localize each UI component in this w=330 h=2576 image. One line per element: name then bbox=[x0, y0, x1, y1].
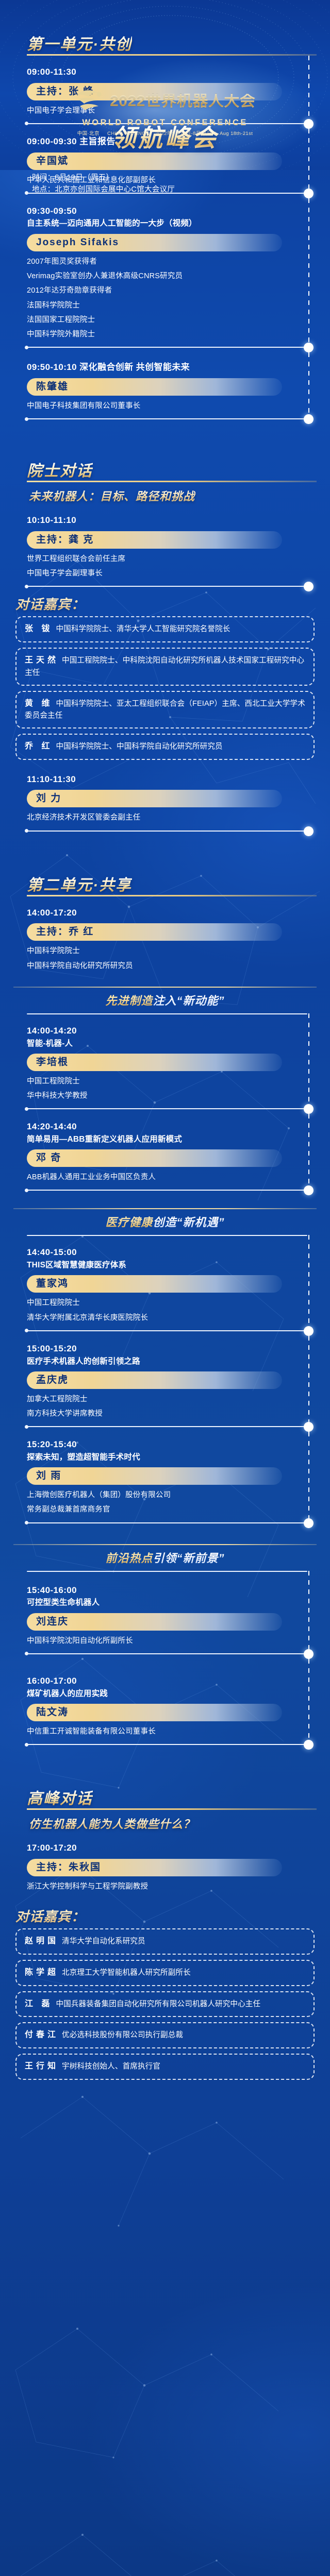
event-time: 时间：8月19日（周五） bbox=[32, 172, 175, 184]
unit-2-title: 第二单元·共享 bbox=[27, 877, 132, 894]
guest-name: 王天然 bbox=[25, 656, 59, 665]
speaker-affiliation: 上海微创医疗机器人（集团）股份有限公司 bbox=[27, 1488, 317, 1502]
unit-2-section: 第二单元·共享 bbox=[0, 872, 330, 896]
session-slot[interactable]: 11:10-11:30 刘 力 北京经济技术开发区管委会副主任 bbox=[13, 766, 317, 832]
guests-heading: 对话嘉宾： bbox=[0, 1899, 98, 1928]
academician-dialogue-title: 院士对话 bbox=[27, 463, 93, 480]
summit-dialogue-rule bbox=[27, 1808, 317, 1810]
speaker-name-pill: 陈肇雄 bbox=[27, 378, 282, 396]
band-3-timeline: 15:40-16:00 可控型类生命机器人 刘连庆 中国科学院沈阳自动化所副所长… bbox=[0, 1571, 330, 1745]
speaker-affiliation: 中信重工开诚智能装备有限公司董事长 bbox=[27, 1724, 317, 1739]
session-slot[interactable]: 14:40-15:00 THIS区域智慧健康医疗体系 董家鸿 中国工程院院士 清… bbox=[13, 1235, 317, 1331]
speaker-affiliation: 中国科学院沈阳自动化所副所长 bbox=[27, 1634, 317, 1648]
guest-name: 陈学超 bbox=[25, 1968, 59, 1977]
event-meta: 时间：8月19日（周五） 地点：北京亦创国际会展中心C馆大会议厅 bbox=[32, 172, 175, 196]
guest-title: 中国科学院院士、中国科学院自动化研究所研究员 bbox=[56, 742, 222, 751]
slot-time: 10:10-11:10 bbox=[27, 514, 317, 527]
unit-1-section: 第一单元·共创 bbox=[0, 31, 330, 56]
session-slot[interactable]: 15:00-15:20 医疗手术机器人的创新引领之路 孟庆虎 加拿大工程院院士 … bbox=[13, 1331, 317, 1427]
session-slot[interactable]: 14:00-17:20 主持：乔 红 中国科学院院士 中国科学院自动化研究所研究… bbox=[13, 896, 317, 976]
host-affiliation: 中国电子学会副理事长 bbox=[27, 566, 317, 581]
summit-dialogue-subtitle: 仿生机器人能为人类做些什么？ bbox=[29, 1815, 317, 1832]
page-title: 领航峰会 bbox=[0, 126, 330, 150]
guest-name: 乔 红 bbox=[25, 742, 53, 751]
slot-time: 09:30-09:50 bbox=[27, 205, 317, 218]
guest-name: 付春江 bbox=[25, 2030, 59, 2039]
speaker-affiliation: 2012年达芬奇勋章获得者 bbox=[27, 283, 317, 298]
slot-time: 14:00-17:20 bbox=[27, 907, 317, 920]
guest-title: 宇树科技创始人、首席执行官 bbox=[62, 2062, 160, 2071]
speaker-affiliation: Verimag实验室创办人兼退休高级CNRS研究员 bbox=[27, 269, 317, 283]
slot-time: 11:10-11:30 bbox=[27, 773, 317, 786]
guest-name: 江 磊 bbox=[25, 1999, 53, 2008]
host-affiliation: 世界工程组织联合会前任主席 bbox=[27, 552, 317, 566]
guest-item[interactable]: 江 磊中国兵器装备集团自动化研究所有限公司机器人研究中心主任 bbox=[15, 1991, 315, 2018]
slot-time: 09:00-11:30 bbox=[27, 66, 317, 79]
session-slot[interactable]: 14:20-14:40 简单易用—ABB重新定义机器人应用新模式 邓 奇 ABB… bbox=[13, 1109, 317, 1191]
speaker-affiliation: 中国工程院院士 bbox=[27, 1074, 317, 1089]
host-name-pill: 主持：乔 红 bbox=[27, 923, 282, 941]
band-plain: 创造“新机遇” bbox=[153, 1216, 225, 1229]
event-place: 地点：北京亦创国际会展中心C馆大会议厅 bbox=[32, 184, 175, 196]
guest-item[interactable]: 付春江优必选科技股份有限公司执行副总裁 bbox=[15, 2022, 315, 2048]
guest-item[interactable]: 赵明国清华大学自动化系研究员 bbox=[15, 1928, 315, 1955]
slot-time: 14:00-14:20 bbox=[27, 1025, 317, 1038]
speaker-affiliation: 中国工程院院士 bbox=[27, 1296, 317, 1310]
guest-item[interactable]: 王行知宇树科技创始人、首席执行官 bbox=[15, 2054, 315, 2080]
speaker-affiliation: 中国科学院外籍院士 bbox=[27, 327, 317, 342]
guest-name: 王行知 bbox=[25, 2062, 59, 2071]
session-slot[interactable]: 09:30-09:50 自主系统—迈向通用人工智能的一大步（视频） Joseph… bbox=[13, 194, 317, 348]
academician-dialogue-rule bbox=[27, 481, 317, 482]
band-plain: 引领“新前景” bbox=[153, 1552, 225, 1565]
band-2-timeline: 14:40-15:00 THIS区域智慧健康医疗体系 董家鸿 中国工程院院士 清… bbox=[0, 1235, 330, 1523]
guest-title: 中国科学院院士、清华大学人工智能研究院名誉院长 bbox=[56, 625, 230, 633]
speaker-name-pill: 李培根 bbox=[27, 1054, 282, 1071]
slot-topic: 自主系统—迈向通用人工智能的一大步（视频） bbox=[27, 217, 317, 229]
summit-host-timeline: 17:00-17:20 主持：朱秋国 浙江大学控制科学与工程学院副教授 bbox=[0, 1832, 330, 1899]
guest-title: 中国工程院院士、中科院沈阳自动化研究所机器人技术国家工程研究中心主任 bbox=[25, 656, 304, 677]
speaker-name-pill: 邓 奇 bbox=[27, 1149, 282, 1167]
guest-title: 北京理工大学智能机器人研究所副所长 bbox=[62, 1969, 191, 1977]
guest-title: 清华大学自动化系研究员 bbox=[62, 1937, 145, 1945]
unit-2-host-timeline: 14:00-17:20 主持：乔 红 中国科学院院士 中国科学院自动化研究所研究… bbox=[0, 896, 330, 976]
speaker-affiliation: 南方科技大学讲席教授 bbox=[27, 1406, 317, 1421]
speaker-affiliation: ABB机器人通用工业业务中国区负责人 bbox=[27, 1170, 317, 1184]
academician-dialogue-timeline: 10:10-11:10 主持：龚 克 世界工程组织联合会前任主席 中国电子学会副… bbox=[0, 504, 330, 587]
host-affiliation: 中国科学院自动化研究所研究员 bbox=[27, 959, 317, 973]
session-slot[interactable]: 15:20-15:40 探索未知，塑造超智能手术时代 刘 雨 上海微创医疗机器人… bbox=[13, 1427, 317, 1523]
slot-topic: 医疗手术机器人的创新引领之路 bbox=[27, 1355, 317, 1367]
guest-name: 张 钹 bbox=[25, 624, 53, 633]
speaker-name-pill: 刘连庆 bbox=[27, 1613, 282, 1631]
guest-name: 赵明国 bbox=[25, 1937, 59, 1945]
conference-title-cn: 2022世界机器人大会 bbox=[110, 94, 255, 109]
session-slot[interactable]: 16:00-17:00 煤矿机器人的应用实践 陆文涛 中信重工开诚智能装备有限公… bbox=[13, 1654, 317, 1745]
speaker-affiliation: 常务副总裁兼首席商务官 bbox=[27, 1502, 317, 1517]
guest-title: 优必选科技股份有限公司执行副总裁 bbox=[62, 2031, 183, 2039]
speaker-name-pill: 刘 雨 bbox=[27, 1467, 282, 1485]
speaker-name-pill: 辛国斌 bbox=[27, 152, 282, 170]
academician-dialogue-section: 院士对话 未来机器人：目标、路径和挑战 bbox=[0, 457, 330, 504]
speaker-name-pill: 刘 力 bbox=[27, 790, 282, 807]
unit-2-header: 第二单元·共享 bbox=[13, 872, 317, 896]
band-highlight: 前沿热点 bbox=[105, 1552, 153, 1565]
slot-time: 15:40-16:00 bbox=[27, 1584, 317, 1597]
speaker-affiliation: 中国电子科技集团有限公司董事长 bbox=[27, 399, 317, 413]
speaker-affiliation: 法国国家工程院院士 bbox=[27, 313, 317, 327]
topic-band: 先进制造注入“新动能” bbox=[0, 987, 330, 1013]
guest-title: 中国兵器装备集团自动化研究所有限公司机器人研究中心主任 bbox=[56, 2000, 260, 2008]
speaker-affiliation: 2007年图灵奖获得者 bbox=[27, 255, 317, 269]
session-slot[interactable]: 15:40-16:00 可控型类生命机器人 刘连庆 中国科学院沈阳自动化所副所长 bbox=[13, 1571, 317, 1654]
band-highlight: 医疗健康 bbox=[105, 1216, 153, 1229]
academician-dialogue-header: 院士对话 未来机器人：目标、路径和挑战 bbox=[13, 457, 317, 504]
slot-topic: 煤矿机器人的应用实践 bbox=[27, 1688, 317, 1700]
guest-item[interactable]: 陈学超北京理工大学智能机器人研究所副所长 bbox=[15, 1960, 315, 1986]
speaker-affiliation: 北京经济技术开发区管委会副主任 bbox=[27, 810, 317, 825]
session-slot[interactable]: 17:00-17:20 主持：朱秋国 浙江大学控制科学与工程学院副教授 bbox=[13, 1832, 317, 1899]
host-name-pill: 主持：朱秋国 bbox=[27, 1859, 282, 1876]
guest-item[interactable]: 王天然中国工程院院士、中科院沈阳自动化研究所机器人技术国家工程研究中心主任 bbox=[15, 648, 315, 685]
summit-dialogue-title: 高峰对话 bbox=[27, 1790, 93, 1807]
speaker-name-pill: Joseph Sifakis bbox=[27, 234, 282, 251]
slot-topic: THIS区域智慧健康医疗体系 bbox=[27, 1259, 317, 1271]
guest-name: 黄 维 bbox=[25, 699, 53, 708]
slot-topic: 简单易用—ABB重新定义机器人应用新模式 bbox=[27, 1133, 317, 1145]
host-affiliation: 浙江大学控制科学与工程学院副教授 bbox=[27, 1879, 317, 1894]
speaker-name-pill: 董家鸿 bbox=[27, 1275, 282, 1293]
speaker-affiliation: 法国科学院院士 bbox=[27, 298, 317, 313]
slot-time: 14:40-15:00 bbox=[27, 1246, 317, 1259]
summit-dialogue-header: 高峰对话 仿生机器人能为人类做些什么？ bbox=[13, 1785, 317, 1832]
guest-title: 中国科学院院士、亚太工程组织联合会（FEIAP）主席、西北工业大学学术委员会主任 bbox=[25, 700, 305, 720]
eagle-logo-icon bbox=[75, 87, 105, 116]
band-highlight: 先进制造 bbox=[105, 994, 153, 1007]
slot-time: 15:20-15:40 bbox=[27, 1438, 317, 1451]
summit-dialogue-section: 高峰对话 仿生机器人能为人类做些什么？ bbox=[0, 1785, 330, 1832]
academician-closing-timeline: 11:10-11:30 刘 力 北京经济技术开发区管委会副主任 bbox=[0, 766, 330, 832]
host-name-pill: 主持：龚 克 bbox=[27, 531, 282, 549]
topic-band: 医疗健康创造“新机遇” bbox=[0, 1208, 330, 1235]
slot-time: 17:00-17:20 bbox=[27, 1842, 317, 1855]
guest-item[interactable]: 张 钹中国科学院院士、清华大学人工智能研究院名誉院长 bbox=[15, 616, 315, 642]
slot-topic: 探索未知，塑造超智能手术时代 bbox=[27, 1451, 317, 1463]
slot-time: 09:50-10:10 深化融合创新 共创智能未来 bbox=[27, 361, 317, 374]
slot-topic: 可控型类生命机器人 bbox=[27, 1597, 317, 1608]
speaker-name-pill: 陆文涛 bbox=[27, 1704, 282, 1721]
unit-1-title: 第一单元·共创 bbox=[27, 36, 132, 53]
guests-heading: 对话嘉宾： bbox=[0, 587, 98, 616]
speaker-affiliation: 加拿大工程院院士 bbox=[27, 1392, 317, 1406]
guest-item[interactable]: 乔 红中国科学院院士、中国科学院自动化研究所研究员 bbox=[15, 734, 315, 760]
guest-item[interactable]: 黄 维中国科学院院士、亚太工程组织联合会（FEIAP）主席、西北工业大学学术委员… bbox=[15, 691, 315, 728]
session-slot[interactable]: 10:10-11:10 主持：龚 克 世界工程组织联合会前任主席 中国电子学会副… bbox=[13, 504, 317, 587]
session-slot[interactable]: 09:50-10:10 深化融合创新 共创智能未来 陈肇雄 中国电子科技集团有限… bbox=[13, 348, 317, 419]
topic-band: 前沿热点引领“新前景” bbox=[0, 1544, 330, 1571]
slot-time: 14:20-14:40 bbox=[27, 1121, 317, 1133]
slot-time: 15:00-15:20 bbox=[27, 1343, 317, 1355]
slot-topic: 智能-机器-人 bbox=[27, 1038, 317, 1049]
session-slot[interactable]: 14:00-14:20 智能-机器-人 李培根 中国工程院院士 华中科技大学教授 bbox=[13, 1013, 317, 1109]
academician-dialogue-subtitle: 未来机器人：目标、路径和挑战 bbox=[29, 487, 317, 504]
speaker-affiliation: 清华大学附属北京清华长庚医院院长 bbox=[27, 1311, 317, 1325]
slot-time: 16:00-17:00 bbox=[27, 1675, 317, 1688]
band-plain: 注入“新动能” bbox=[153, 994, 225, 1007]
speaker-affiliation: 华中科技大学教授 bbox=[27, 1089, 317, 1103]
speaker-name-pill: 孟庆虎 bbox=[27, 1371, 282, 1389]
unit-1-header: 第一单元·共创 bbox=[13, 31, 317, 56]
band-1-timeline: 14:00-14:20 智能-机器-人 李培根 中国工程院院士 华中科技大学教授… bbox=[0, 1013, 330, 1191]
host-affiliation: 中国科学院院士 bbox=[27, 944, 317, 958]
